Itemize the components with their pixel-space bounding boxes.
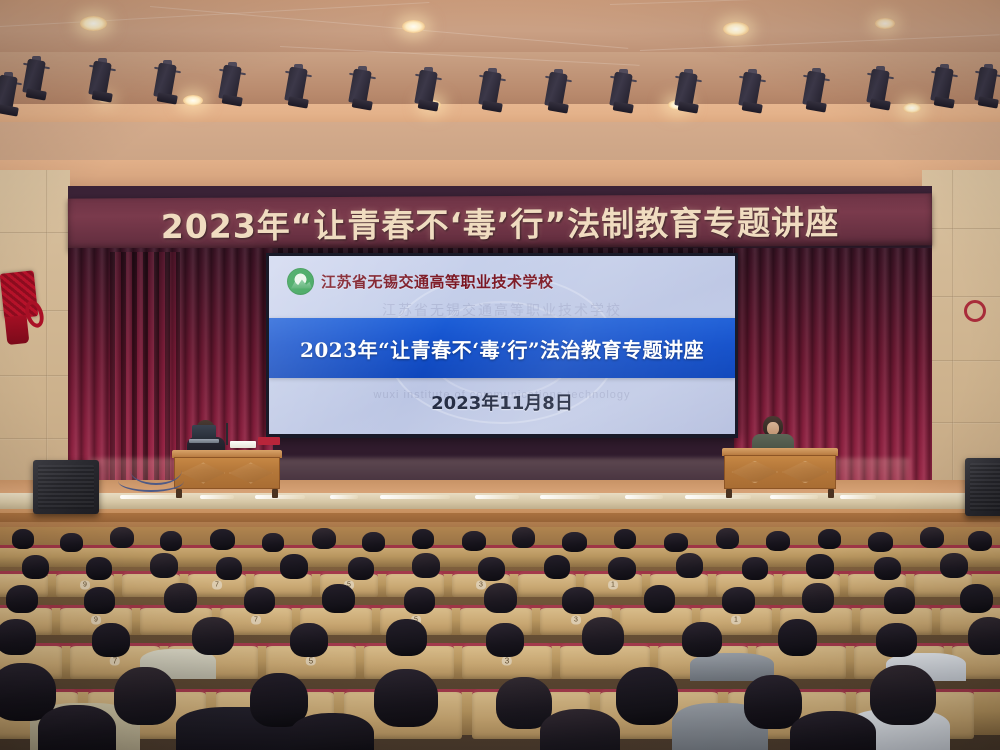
papers-left (230, 441, 256, 448)
downlight-icon (875, 18, 895, 29)
audience-head (644, 585, 675, 613)
seat-number: 9 (91, 616, 101, 625)
audience-head (744, 675, 802, 729)
stage-light-fixture (548, 73, 572, 119)
audience-head (150, 553, 178, 578)
laptop-screen (192, 425, 216, 440)
podium-right (722, 448, 838, 498)
seat-number: 9 (80, 580, 90, 589)
stage-cable (118, 470, 184, 492)
audience-head (562, 587, 594, 614)
audience-head (960, 584, 993, 613)
audience-head (616, 667, 678, 725)
banner-text: 2023年“让青春不‘毒’行”法制教育专题讲座 (161, 196, 840, 248)
ceiling-front-edge (0, 160, 1000, 186)
audience-head (682, 622, 722, 657)
audience-head (790, 711, 876, 750)
audience-head (608, 557, 636, 580)
seat-number: 5 (306, 657, 316, 666)
seat-number: 7 (251, 616, 261, 625)
audience-head (404, 587, 435, 614)
stage-light-fixture (352, 70, 376, 116)
audience-head (210, 529, 235, 550)
audience-head (192, 617, 234, 655)
wall-emblem-icon (964, 300, 986, 322)
audience-head (664, 533, 688, 552)
stage-light-fixture (92, 62, 116, 108)
audience-head (802, 583, 834, 613)
stage-light-fixture (613, 73, 637, 119)
stage-light-fixture (222, 66, 246, 112)
loudspeaker-left (33, 460, 99, 514)
audience-head (86, 557, 112, 580)
audience-head (870, 665, 936, 725)
audience-head (92, 623, 130, 657)
downlight-icon (183, 95, 203, 106)
audience-head (868, 532, 893, 552)
ceiling-soffit (0, 0, 1000, 52)
audience-head (216, 557, 242, 580)
audience-head (676, 553, 703, 578)
audience-head (876, 623, 917, 657)
loudspeaker-right (965, 458, 1000, 516)
audience-head (6, 585, 38, 613)
audience-head (722, 587, 755, 614)
downlight-icon (903, 103, 921, 113)
audience-head (38, 705, 116, 750)
audience-head (462, 531, 486, 551)
seat-number: 3 (476, 580, 486, 589)
audience-head (884, 587, 915, 614)
slide-school-name: 江苏省无锡交通高等职业技术学校 (321, 271, 554, 292)
audience-head (244, 587, 275, 614)
audience-head (920, 527, 944, 548)
audience-head (280, 554, 308, 579)
audience-head (164, 583, 197, 613)
audience-head (290, 623, 328, 657)
downlight-icon (723, 22, 749, 36)
seat-number: 3 (502, 657, 512, 666)
audience-head (582, 617, 624, 655)
audience-head (110, 527, 134, 548)
audience-head (940, 553, 968, 578)
stage-light-fixture (0, 76, 22, 122)
seat-number: 1 (608, 580, 618, 589)
audience-head (540, 709, 620, 750)
slide-date: 2023年11月8日 (269, 389, 735, 415)
audience-head (806, 554, 834, 579)
event-banner: 2023年“让青春不‘毒’行”法制教育专题讲座 (68, 193, 932, 250)
audience-head (486, 623, 524, 657)
audience-head (742, 557, 768, 580)
projection-screen: 江苏省无锡交通高等职业技术学校 wuxi institute of commun… (269, 256, 735, 434)
audience-head (312, 528, 336, 549)
audience-head (374, 669, 438, 727)
audience-head (512, 527, 535, 548)
audience-head (362, 532, 385, 552)
audience-head (22, 555, 49, 579)
seat-number: 3 (571, 616, 581, 625)
downlight-icon (402, 20, 425, 33)
auditorium-photo: 2023年“让青春不‘毒’行”法制教育专题讲座 江苏省无锡交通高等职业技术学校 … (0, 0, 1000, 750)
stage-light-fixture (26, 60, 50, 106)
audience-head (562, 532, 587, 552)
audience-head (412, 529, 434, 549)
audience-area: 9 7 5 3 1 9 7 5 (0, 527, 1000, 750)
stage-light-fixture (288, 68, 312, 114)
slide-title-band: 2023年“让青春不‘毒’行”法治教育专题讲座 (269, 318, 735, 378)
podium-left (172, 450, 282, 498)
stage-light-fixture (482, 72, 506, 118)
stage-light-fixture (934, 68, 958, 114)
downlight-icon (80, 16, 107, 31)
audience-head (716, 528, 739, 549)
audience-head (348, 557, 374, 580)
stage-light-fixture (742, 73, 766, 119)
audience-head (12, 529, 34, 549)
audience-head (290, 713, 374, 750)
audience-head (544, 555, 570, 579)
audience-head (114, 667, 176, 725)
audience-head (766, 531, 790, 551)
slide-title: 2023年“让青春不‘毒’行”法治教育专题讲座 (300, 334, 704, 363)
audience-head (160, 531, 182, 551)
audience-head (968, 617, 1000, 655)
audience-head (778, 619, 817, 656)
audience-head (262, 533, 284, 552)
audience-head (968, 531, 992, 551)
microphone-stand (226, 423, 228, 445)
stage-light-fixture (157, 64, 181, 110)
audience-head (818, 529, 841, 549)
stage-light-fixture (806, 72, 830, 118)
seat-number: 1 (731, 616, 741, 625)
school-logo-icon (287, 268, 314, 295)
stage-light-fixture (418, 71, 442, 117)
audience-head (0, 619, 36, 655)
red-booklet (258, 437, 280, 445)
slide-header: 江苏省无锡交通高等职业技术学校 (269, 264, 735, 298)
seat-number: 7 (212, 580, 222, 589)
audience-head (412, 553, 440, 578)
audience-head (322, 584, 355, 613)
audience-head (614, 529, 636, 549)
audience-head (84, 587, 115, 614)
audience-head (484, 583, 517, 613)
audience-head (478, 557, 505, 581)
stage-light-fixture (678, 73, 702, 119)
laptop-base (189, 439, 219, 443)
audience-head (874, 557, 901, 580)
audience-head (386, 619, 427, 656)
stage-light-fixture (870, 70, 894, 116)
seat-number: 7 (110, 657, 120, 666)
chinese-knot-decoration (2, 272, 44, 350)
stage-light-fixture (978, 68, 1000, 114)
audience-head (60, 533, 83, 552)
